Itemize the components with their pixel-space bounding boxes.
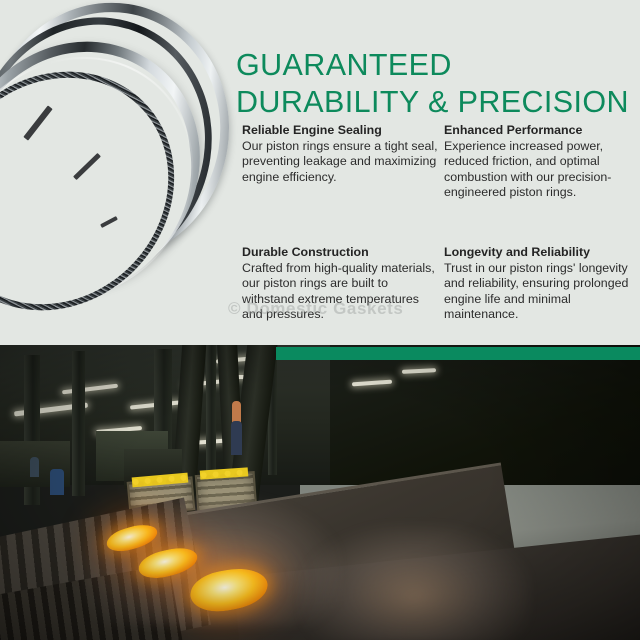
feature-body: Experience increased power, reduced fric… [444, 139, 632, 200]
piston-rings-image [0, 0, 258, 322]
feature-item-enhanced-performance: Enhanced Performance Experience increase… [444, 122, 636, 244]
top-info-panel: GUARANTEED DURABILITY & PRECISION Reliab… [0, 0, 640, 347]
watermark-text: © Domestic Gaskets [228, 299, 403, 319]
factory-forge-photo: 5 [0, 345, 640, 640]
infographic-page: GUARANTEED DURABILITY & PRECISION Reliab… [0, 0, 640, 640]
title-line-1: GUARANTEED [236, 47, 632, 84]
feature-item-longevity-and-reliability: Longevity and Reliability Trust in our p… [444, 244, 636, 322]
feature-title: Durable Construction [242, 244, 440, 260]
feature-title: Longevity and Reliability [444, 244, 632, 260]
feature-body: Trust in our piston rings' longevity and… [444, 261, 632, 322]
feature-title: Reliable Engine Sealing [242, 122, 440, 138]
feature-title: Enhanced Performance [444, 122, 632, 138]
photo-vignette [0, 345, 640, 640]
feature-grid: Reliable Engine Sealing Our piston rings… [242, 122, 636, 322]
title-line-2: DURABILITY & PRECISION [236, 84, 632, 121]
green-accent-band [276, 347, 640, 360]
page-title: GUARANTEED DURABILITY & PRECISION [236, 47, 632, 121]
feature-item-reliable-engine-sealing: Reliable Engine Sealing Our piston rings… [242, 122, 444, 244]
feature-body: Our piston rings ensure a tight seal, pr… [242, 139, 440, 185]
